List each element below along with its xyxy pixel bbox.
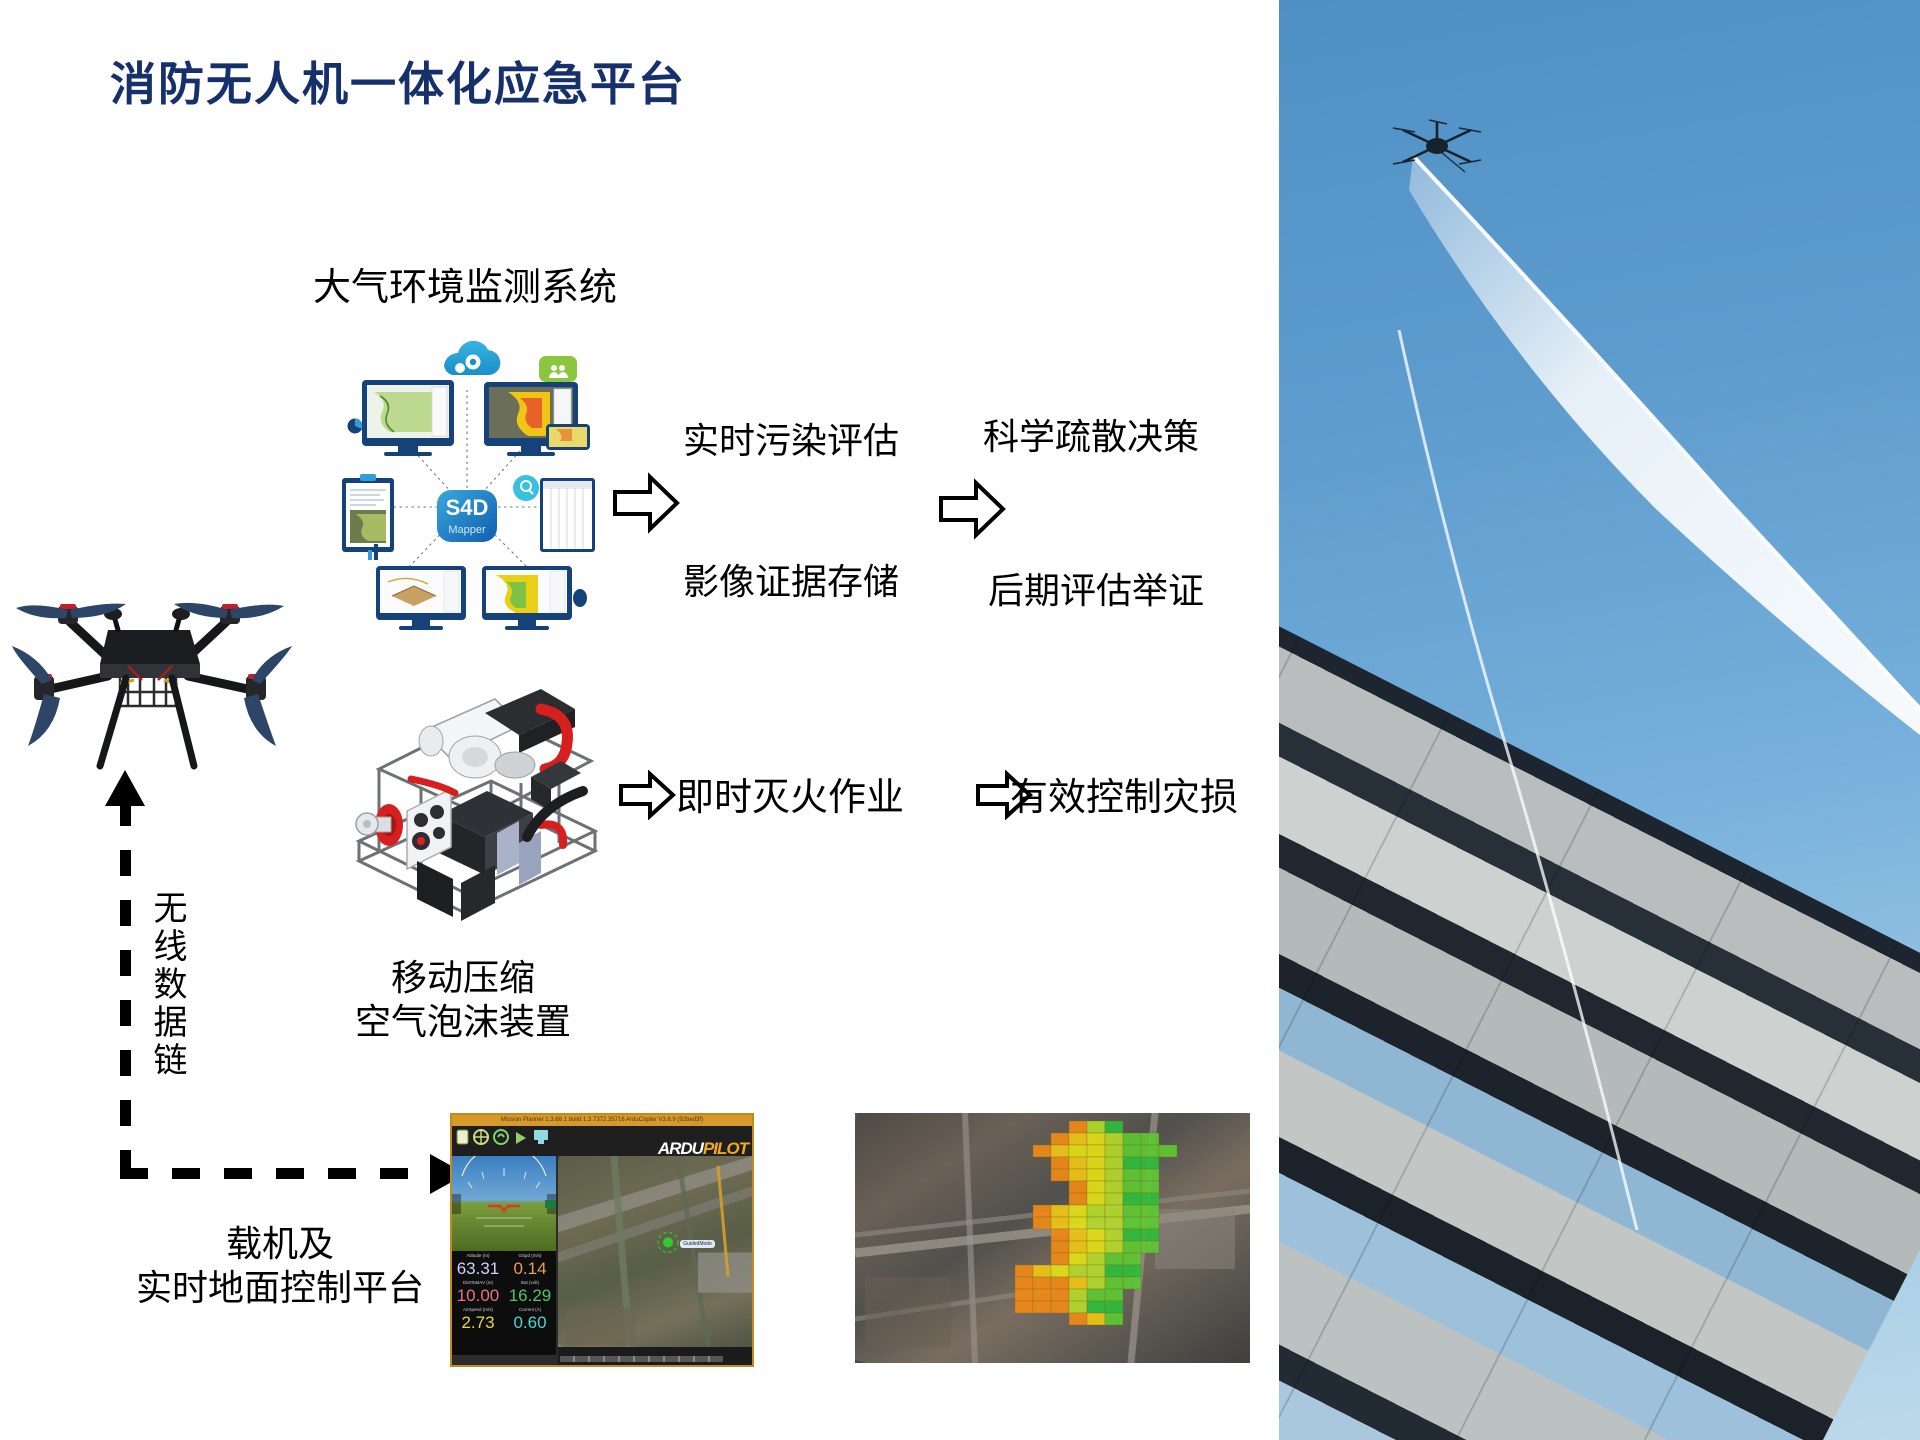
monitor-bottomleft <box>368 544 466 630</box>
heatmap-cell <box>1105 1289 1123 1301</box>
gcs-window-title: Mission Planner 1.3.68.1 build 1.3.7372.… <box>452 1115 752 1126</box>
block-arrow-right-2 <box>938 478 1006 540</box>
s4d-mapper-diagram: S4D Mapper <box>340 330 595 630</box>
outcome-image-evidence-storage: 影像证据存储 <box>683 553 899 605</box>
heatmap-cell <box>1141 1205 1159 1217</box>
heatmap-cell <box>1069 1121 1087 1133</box>
heatmap-cell <box>1087 1301 1105 1313</box>
heatmap-cell <box>1123 1133 1141 1145</box>
ground-platform-label-line2: 实时地面控制平台 <box>90 1266 470 1310</box>
heatmap-cell <box>1123 1217 1141 1229</box>
s4d-diagram-svg: S4D Mapper <box>340 330 595 630</box>
heatmap-grid <box>1015 1121 1177 1325</box>
heatmap-cell <box>1141 1169 1159 1181</box>
heatmap-cell <box>1015 1289 1033 1301</box>
gcs-status-bar <box>558 1347 752 1365</box>
heatmap-cell <box>1087 1121 1105 1133</box>
heatmap-cell <box>1069 1133 1087 1145</box>
heatmap-cell <box>1087 1253 1105 1265</box>
heatmap-cell <box>1069 1205 1087 1217</box>
heatmap-cell <box>1087 1181 1105 1193</box>
heatmap-cell <box>1051 1301 1069 1313</box>
heatmap-cell <box>1069 1301 1087 1313</box>
slide-root: 消防无人机一体化应急平台 大气环境监测系统 <box>0 0 1920 1440</box>
cloud-icon <box>444 341 500 375</box>
heatmap-cell <box>1105 1229 1123 1241</box>
monitor-bottomright <box>482 566 587 630</box>
heatmap-cell <box>1069 1313 1087 1325</box>
heatmap-cell <box>1051 1241 1069 1253</box>
heatmap-cell <box>1105 1145 1123 1157</box>
heatmap-svg <box>855 1113 1250 1363</box>
s4d-logo: S4D Mapper <box>437 490 497 542</box>
wireless-data-link-label: 无线数据链 <box>143 890 192 1080</box>
heatmap-cell <box>1087 1217 1105 1229</box>
heatmap-cell <box>1105 1169 1123 1181</box>
block-arrow-right-3 <box>618 770 676 820</box>
gcs-map-marker-label: GuidedMode <box>680 1240 715 1248</box>
heatmap-cell <box>1051 1277 1069 1289</box>
heatmap-cell <box>1087 1277 1105 1289</box>
heatmap-cell <box>1087 1133 1105 1145</box>
monitor-topleft <box>348 380 455 456</box>
ground-platform-label: 载机及 实时地面控制平台 <box>90 1222 470 1310</box>
heatmap-cell <box>1087 1265 1105 1277</box>
heatmap-cell <box>1069 1217 1087 1229</box>
pollution-heatmap-image <box>855 1113 1250 1363</box>
outcome-pollution-assessment: 实时污染评估 <box>683 412 899 464</box>
data-link-vertical <box>120 800 131 1168</box>
heatmap-cell <box>1033 1145 1051 1157</box>
heatmap-cell <box>1087 1205 1105 1217</box>
heatmap-cell <box>1051 1145 1069 1157</box>
heatmap-cell <box>1123 1277 1141 1289</box>
block-arrow-right-1 <box>612 472 680 534</box>
s4d-logo-line2: Mapper <box>448 524 486 536</box>
heatmap-cell <box>1141 1145 1159 1157</box>
uav-firefighting-photo <box>1279 0 1920 1440</box>
heatmap-cell <box>1087 1313 1105 1325</box>
heatmap-cell <box>1069 1193 1087 1205</box>
heatmap-cell <box>1051 1253 1069 1265</box>
page-title: 消防无人机一体化应急平台 <box>110 48 686 114</box>
heatmap-cell <box>1069 1265 1087 1277</box>
heatmap-cell <box>1051 1265 1069 1277</box>
heatmap-cell <box>1141 1157 1159 1169</box>
heatmap-cell <box>1033 1301 1051 1313</box>
outcome-immediate-extinguishing: 即时灭火作业 <box>676 766 904 821</box>
heatmap-cell <box>1051 1133 1069 1145</box>
heatmap-cell <box>1123 1181 1141 1193</box>
s4d-logo-line1: S4D <box>446 495 489 520</box>
heatmap-cell <box>1105 1301 1123 1313</box>
telemetry-cell: Bat (volt) 16.29 <box>504 1278 556 1305</box>
compressed-air-foam-device-image <box>345 665 620 940</box>
heatmap-cell <box>1051 1157 1069 1169</box>
heatmap-cell <box>1087 1241 1105 1253</box>
heatmap-cell <box>1015 1265 1033 1277</box>
heatmap-cell <box>1069 1241 1087 1253</box>
heatmap-cell <box>1123 1157 1141 1169</box>
heatmap-cell <box>1087 1289 1105 1301</box>
foam-device-label: 移动压缩 空气泡沫装置 <box>355 956 571 1044</box>
heatmap-cell <box>1033 1205 1051 1217</box>
heatmap-cell <box>1069 1181 1087 1193</box>
outcome-post-assessment-evidence: 后期评估举证 <box>988 562 1204 614</box>
heatmap-cell <box>1123 1193 1141 1205</box>
heatmap-cell <box>1141 1193 1159 1205</box>
heatmap-cell <box>1051 1205 1069 1217</box>
heatmap-cell <box>1015 1301 1033 1313</box>
foam-device-label-line2: 空气泡沫装置 <box>355 1000 571 1044</box>
heatmap-cell <box>1033 1277 1051 1289</box>
uav-platform-image <box>8 580 298 810</box>
heatmap-cell <box>1105 1133 1123 1145</box>
heatmap-cell <box>1105 1193 1123 1205</box>
monitor-topright <box>484 382 590 456</box>
heatmap-cell <box>1069 1169 1087 1181</box>
foam-device-label-line1: 移动压缩 <box>355 956 571 1000</box>
ground-control-station-screenshot[interactable]: Mission Planner 1.3.68.1 build 1.3.7372.… <box>450 1113 754 1367</box>
heatmap-cell <box>1105 1217 1123 1229</box>
heatmap-cell <box>1105 1265 1123 1277</box>
heatmap-cell <box>1105 1205 1123 1217</box>
heatmap-cell <box>1141 1133 1159 1145</box>
heatmap-cell <box>1033 1217 1051 1229</box>
heatmap-cell <box>1105 1121 1123 1133</box>
heatmap-cell <box>1123 1265 1141 1277</box>
atmosphere-system-label: 大气环境监测系统 <box>313 256 617 311</box>
heatmap-cell <box>1105 1181 1123 1193</box>
heatmap-cell <box>1087 1169 1105 1181</box>
heatmap-cell <box>1069 1229 1087 1241</box>
heatmap-cell <box>1051 1217 1069 1229</box>
telemetry-value: 0.60 <box>504 1313 556 1332</box>
heatmap-cell <box>1105 1277 1123 1289</box>
heatmap-cell <box>1051 1169 1069 1181</box>
heatmap-cell <box>1069 1289 1087 1301</box>
gcs-map-graphics <box>558 1156 752 1347</box>
gcs-map-view[interactable]: GuidedMode <box>558 1156 752 1347</box>
heatmap-cell <box>1069 1145 1087 1157</box>
telemetry-value: 16.29 <box>504 1286 556 1305</box>
heatmap-cell <box>1123 1145 1141 1157</box>
heatmap-cell <box>1141 1217 1159 1229</box>
clipboard-left <box>342 474 394 552</box>
gcs-toolbar-icons[interactable] <box>454 1126 558 1156</box>
heatmap-cell <box>1069 1253 1087 1265</box>
heatmap-cell <box>1123 1169 1141 1181</box>
heatmap-cell <box>1105 1241 1123 1253</box>
heatmap-cell <box>1033 1289 1051 1301</box>
heatmap-cell <box>1069 1157 1087 1169</box>
gcs-toolbar[interactable]: ARDUPILOT <box>452 1126 752 1156</box>
heatmap-cell <box>1051 1289 1069 1301</box>
data-link-horizontal <box>120 1168 440 1179</box>
heatmap-cell <box>1015 1277 1033 1289</box>
table-right <box>513 475 595 552</box>
heatmap-cell <box>1141 1229 1159 1241</box>
gcs-status-chips <box>560 1356 723 1362</box>
telemetry-cell: Current (A) 0.60 <box>504 1305 556 1332</box>
heatmap-cell <box>1123 1205 1141 1217</box>
telemetry-value: 0.14 <box>504 1259 556 1278</box>
outcome-evacuation-decision: 科学疏散决策 <box>983 408 1199 460</box>
heatmap-cell <box>1123 1241 1141 1253</box>
heatmap-cell <box>1123 1229 1141 1241</box>
heatmap-cell <box>1105 1313 1123 1325</box>
heatmap-cell <box>1123 1253 1141 1265</box>
heatmap-cell <box>1033 1265 1051 1277</box>
heatmap-cell <box>1069 1277 1087 1289</box>
outcome-damage-control: 有效控制灾损 <box>1010 766 1238 821</box>
heatmap-cell <box>1105 1157 1123 1169</box>
heatmap-cell <box>1051 1229 1069 1241</box>
heatmap-cell <box>1087 1229 1105 1241</box>
heatmap-cell <box>1141 1241 1159 1253</box>
telemetry-cell: GSpd (m/s) 0.14 <box>504 1251 556 1278</box>
telemetry-value: 2.73 <box>452 1313 504 1332</box>
photo-hose-line <box>1397 330 1747 1230</box>
heatmap-cell <box>1087 1157 1105 1169</box>
photo-drone-silhouette <box>1389 118 1485 174</box>
heatmap-cell <box>1105 1253 1123 1265</box>
heatmap-cell <box>1087 1193 1105 1205</box>
heatmap-cell <box>1087 1145 1105 1157</box>
ground-platform-label-line1: 载机及 <box>90 1222 470 1266</box>
heatmap-cell <box>1141 1181 1159 1193</box>
heatmap-cell <box>1159 1145 1177 1157</box>
